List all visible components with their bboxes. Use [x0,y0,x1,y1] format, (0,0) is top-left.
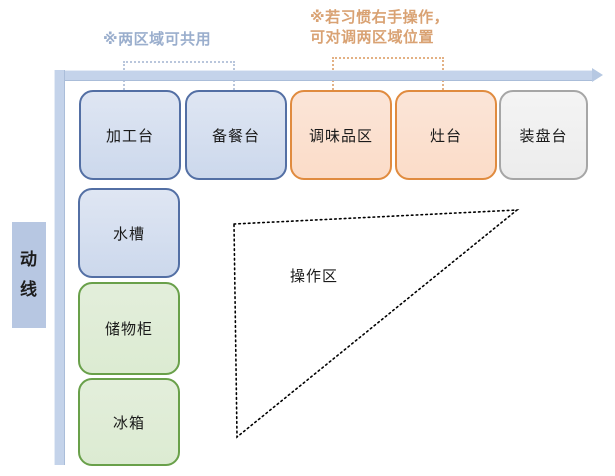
station-plating[interactable]: 装盘台 [499,90,588,180]
flow-line-horizontal [54,70,594,81]
station-stove-label: 灶台 [430,125,462,146]
annotation-shared-area: ※两区域可共用 [103,30,211,50]
station-seasoning[interactable]: 调味品区 [290,90,392,180]
station-seasoning-label: 调味品区 [309,125,373,146]
station-fridge-label: 冰箱 [113,412,145,433]
station-stove[interactable]: 灶台 [395,90,497,180]
flow-line-arrow-icon [592,68,603,82]
flow-line-label-char-1: 动 [20,245,38,275]
flow-line-vertical [54,70,65,465]
work-triangle-label: 操作区 [290,265,338,286]
station-processing[interactable]: 加工台 [79,90,181,180]
station-prep[interactable]: 备餐台 [185,90,287,180]
station-processing-label: 加工台 [106,125,154,146]
station-sink-label: 水槽 [113,223,145,244]
kitchen-workflow-diagram: ※两区域可共用 ※若习惯右手操作， 可对调两区域位置 动 线 加工台 备餐台 调… [0,0,615,476]
flow-line-label-char-2: 线 [20,275,38,305]
station-plating-label: 装盘台 [519,125,567,146]
station-storage-label: 储物柜 [105,318,153,339]
station-storage[interactable]: 储物柜 [78,282,180,375]
station-sink[interactable]: 水槽 [78,188,180,278]
work-triangle-outline [234,210,517,437]
station-fridge[interactable]: 冰箱 [78,378,180,466]
annotation-right-hand-swap: ※若习惯右手操作， 可对调两区域位置 [310,8,449,48]
station-prep-label: 备餐台 [212,125,260,146]
flow-line-label: 动 线 [12,222,46,328]
